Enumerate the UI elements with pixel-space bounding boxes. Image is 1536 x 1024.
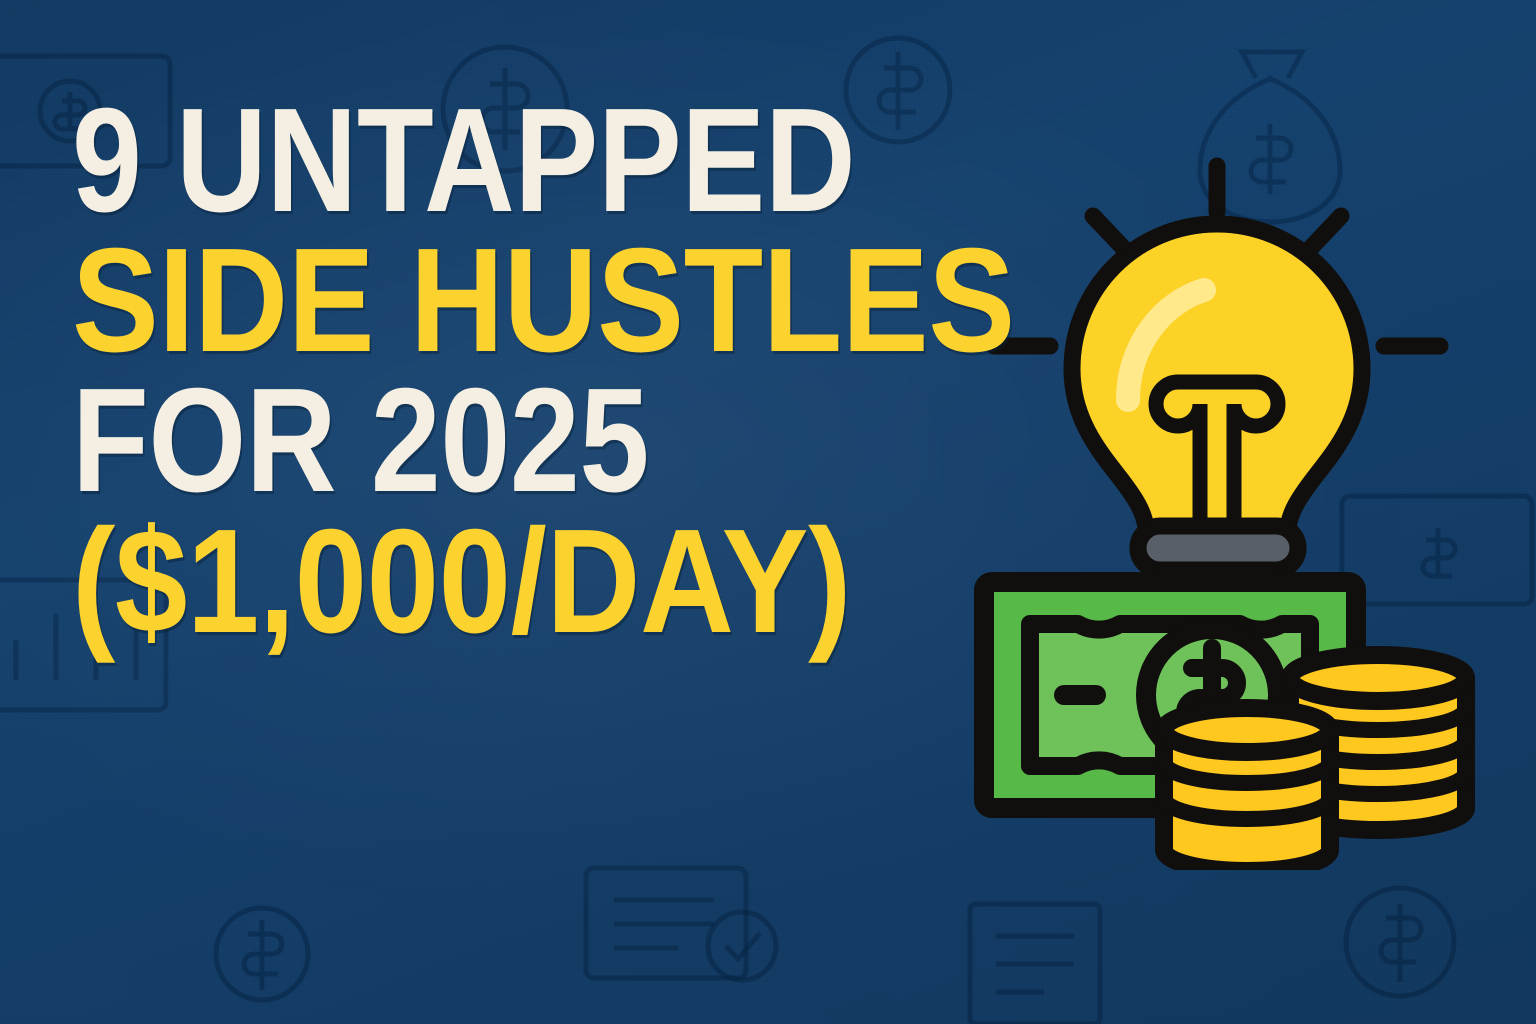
watermark-coin-icon-2 bbox=[1320, 860, 1490, 1024]
watermark-dollar-sign-icon-2 bbox=[190, 880, 340, 1024]
poster-canvas: 9 UNTAPPED SIDE HUSTLES FOR 2025 ($1,000… bbox=[0, 0, 1536, 1024]
watermark-receipt-icon bbox=[950, 890, 1130, 1024]
watermark-document-check-icon bbox=[570, 850, 820, 1020]
headline-line-2: SIDE HUSTLES bbox=[72, 236, 934, 366]
light-bulb-icon bbox=[1072, 224, 1362, 528]
headline-line-3: FOR 2025 bbox=[72, 376, 905, 506]
headline-line-4: ($1,000/DAY) bbox=[72, 517, 934, 647]
headline-line-1: 9 UNTAPPED bbox=[72, 96, 905, 226]
coin-stack-front-icon bbox=[1164, 708, 1330, 870]
headline-block: 9 UNTAPPED SIDE HUSTLES FOR 2025 ($1,000… bbox=[72, 96, 1052, 647]
